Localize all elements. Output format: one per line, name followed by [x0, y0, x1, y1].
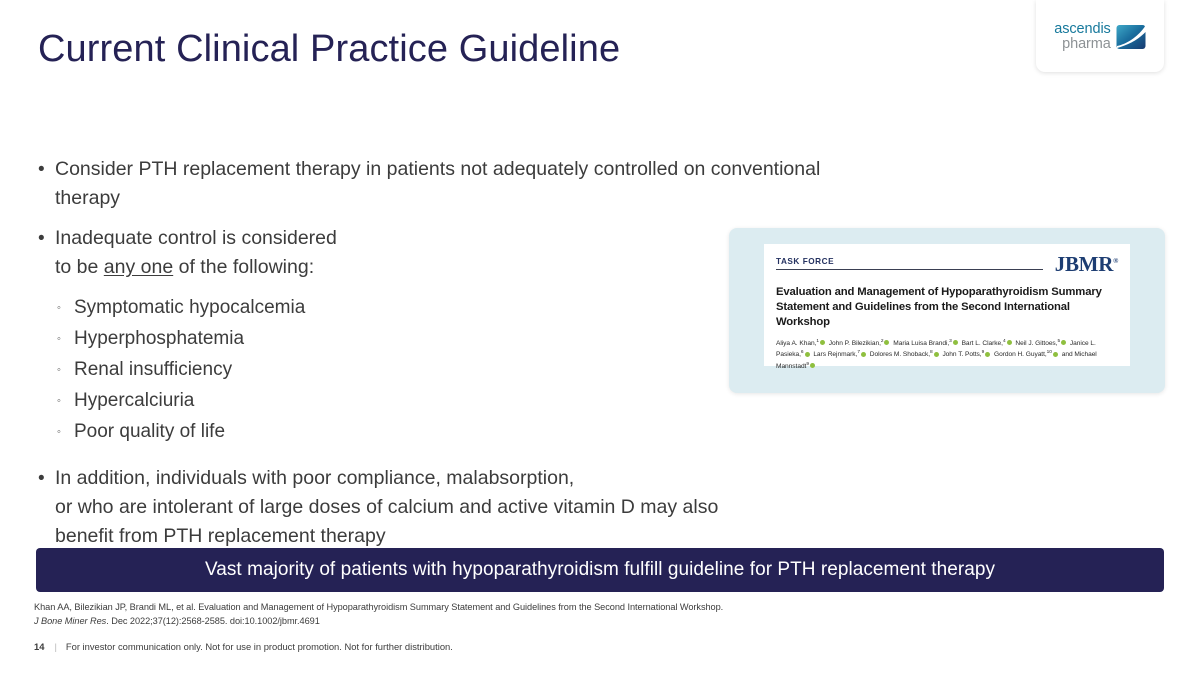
orcid-icon [805, 352, 810, 357]
slide-root: ascendis pharma Current Clinical Practic… [0, 0, 1200, 675]
journal-article-card: TASK FORCE JBMR® Evaluation and Manageme… [729, 228, 1165, 393]
sub-bullet-item: ◦ Renal insufficiency [57, 355, 838, 386]
jbmr-logo-text: JBMR [1055, 252, 1113, 276]
bullet-marker-icon: • [38, 155, 55, 184]
citation-journal-name: J Bone Miner Res [34, 616, 106, 626]
orcid-icon [1007, 340, 1012, 345]
orcid-icon [1053, 352, 1058, 357]
jbmr-registered-icon: ® [1113, 257, 1118, 265]
orcid-icon [861, 352, 866, 357]
logo-word-pharma: pharma [1062, 37, 1111, 52]
ascendis-pharma-logo: ascendis pharma [1036, 0, 1164, 72]
citation-line-1: Khan AA, Bilezikian JP, Brandi ML, et al… [34, 600, 723, 614]
bullet-item-2-label: Inadequate control is considered to be a… [55, 224, 838, 282]
orcid-icon [934, 352, 939, 357]
sub-bullet-label: Hypercalciuria [74, 386, 194, 416]
sub-bullet-label: Renal insufficiency [74, 355, 232, 385]
sub-bullet-list: ◦ Symptomatic hypocalcemia ◦ Hyperphosph… [38, 293, 838, 448]
author-affiliation: 4 [1003, 339, 1006, 344]
orcid-icon [985, 352, 990, 357]
author-name: Neil J. Gittoes, [1015, 340, 1057, 347]
task-force-section: TASK FORCE [776, 254, 1055, 270]
bullet-2-underlined-text: any one [104, 256, 173, 278]
author-name: Aliya A. Khan, [776, 340, 816, 347]
author-name: John T. Potts, [942, 352, 981, 359]
author-affiliation: 9 [806, 362, 809, 367]
logo-wordmark: ascendis pharma [1054, 22, 1110, 53]
footer-separator: | [54, 641, 56, 652]
author-name: John P. Bilezikian, [829, 340, 881, 347]
page-title: Current Clinical Practice Guideline [38, 28, 620, 71]
sub-bullet-item: ◦ Symptomatic hypocalcemia [57, 293, 838, 324]
key-message-text: Vast majority of patients with hypoparat… [205, 559, 995, 581]
body-content: • Consider PTH replacement therapy in pa… [38, 155, 838, 562]
sub-bullet-marker-icon: ◦ [57, 293, 74, 324]
journal-article-title: Evaluation and Management of Hypoparathy… [776, 285, 1118, 330]
author-affiliation: 6 [801, 350, 804, 355]
author-affiliation: 1 [816, 339, 819, 344]
orcid-icon [1061, 340, 1066, 345]
bullet-item-2: • Inadequate control is considered to be… [38, 224, 838, 282]
bullet-item-3: • In addition, individuals with poor com… [38, 464, 838, 551]
logo-inner: ascendis pharma [1054, 22, 1145, 53]
journal-article-page: TASK FORCE JBMR® Evaluation and Manageme… [764, 244, 1130, 366]
citation-line-2: J Bone Miner Res. Dec 2022;37(12):2568-2… [34, 614, 723, 628]
sub-bullet-item: ◦ Poor quality of life [57, 417, 838, 448]
sub-bullet-label: Symptomatic hypocalcemia [74, 293, 305, 323]
journal-authors: Aliya A. Khan,1 John P. Bilezikian,2 Mar… [776, 338, 1118, 373]
author-affiliation: 2 [881, 339, 884, 344]
sub-bullet-item: ◦ Hypercalciuria [57, 386, 838, 417]
author-name: Dolores M. Shoback, [870, 352, 930, 359]
ascendis-swoosh-icon [1116, 23, 1146, 51]
author-affiliation: 9 [982, 350, 985, 355]
bullet-1-text: Consider PTH replacement therapy in pati… [55, 158, 820, 209]
sub-bullet-marker-icon: ◦ [57, 417, 74, 448]
author-name: Gordon H. Guyatt, [994, 352, 1047, 359]
author-name: Lars Rejnmark, [813, 352, 857, 359]
orcid-icon [953, 340, 958, 345]
sub-bullet-marker-icon: ◦ [57, 355, 74, 386]
task-force-rule [776, 269, 1043, 270]
slide-footer: 14 | For investor communication only. No… [34, 641, 453, 652]
bullet-item-1-label: Consider PTH replacement therapy in pati… [55, 155, 838, 213]
bullet-marker-icon: • [38, 224, 55, 253]
page-number: 14 [34, 641, 44, 652]
author-affiliation: 5 [1057, 339, 1060, 344]
footer-disclaimer: For investor communication only. Not for… [66, 641, 453, 652]
author-name: Maria Luisa Brandi, [893, 340, 949, 347]
orcid-icon [810, 363, 815, 368]
orcid-icon [820, 340, 825, 345]
logo-word-ascendis: ascendis [1054, 22, 1110, 37]
author-affiliation: 10 [1047, 350, 1052, 355]
bullet-2-text-after: of the following: [173, 256, 314, 278]
bullet-marker-icon: • [38, 464, 55, 493]
author-name: Bart L. Clarke, [962, 340, 1003, 347]
jbmr-logo: JBMR® [1055, 254, 1118, 275]
sub-bullet-item: ◦ Hyperphosphatemia [57, 324, 838, 355]
bullet-item-3-label: In addition, individuals with poor compl… [55, 464, 838, 551]
citation-journal-details: . Dec 2022;37(12):2568-2585. doi:10.1002… [106, 616, 320, 626]
sub-bullet-marker-icon: ◦ [57, 386, 74, 417]
sub-bullet-label: Poor quality of life [74, 417, 225, 447]
journal-header: TASK FORCE JBMR® [776, 254, 1118, 275]
sub-bullet-label: Hyperphosphatemia [74, 324, 244, 354]
author-affiliation: 3 [949, 339, 952, 344]
task-force-label: TASK FORCE [776, 257, 1043, 266]
key-message-banner: Vast majority of patients with hypoparat… [36, 548, 1164, 592]
orcid-icon [884, 340, 889, 345]
author-affiliation: 7 [857, 350, 860, 355]
author-affiliation: 8 [930, 350, 933, 355]
citation: Khan AA, Bilezikian JP, Brandi ML, et al… [34, 600, 723, 629]
bullet-item-1: • Consider PTH replacement therapy in pa… [38, 155, 838, 213]
sub-bullet-marker-icon: ◦ [57, 324, 74, 355]
